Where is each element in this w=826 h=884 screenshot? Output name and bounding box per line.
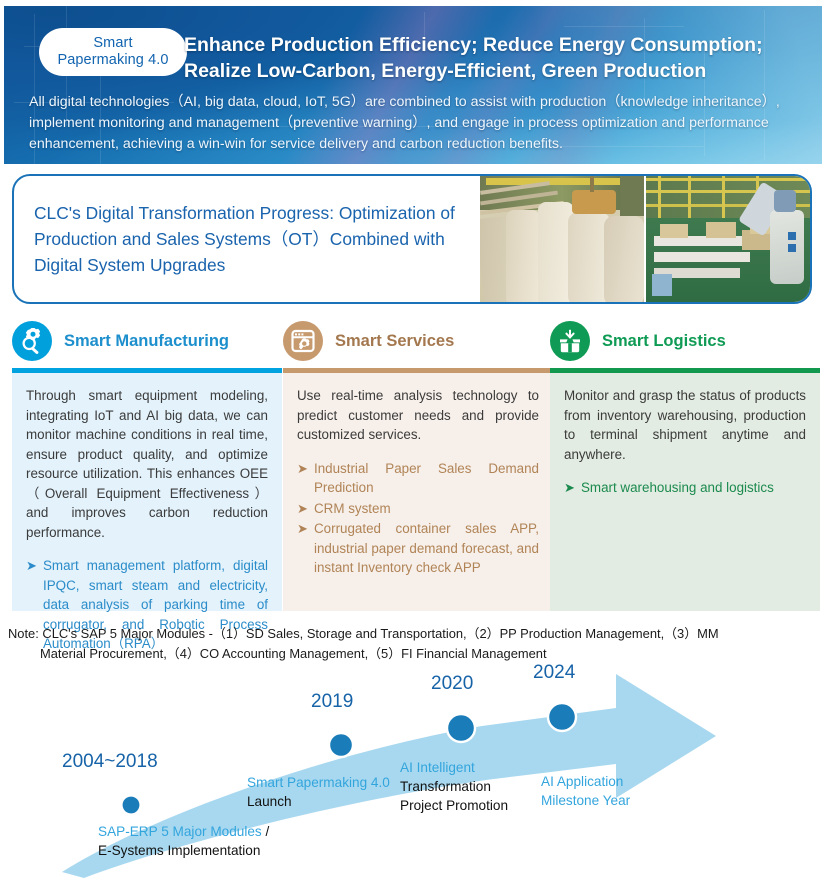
panel-title: CLC's Digital Transformation Progress: O… [34,200,494,278]
hero-headline: Enhance Production Efficiency; Reduce En… [184,32,814,84]
gear-magnifier-icon [12,321,52,361]
column-smart-services: Smart Services Use real-time analysis te… [283,318,553,611]
timeline-label-1-blue: SAP-ERP 5 Major Modules [98,824,262,839]
capability-columns: Smart Manufacturing Through smart equipm… [0,318,826,618]
hero-paragraph: All digital technologies（AI, big data, c… [29,92,804,155]
timeline-label-1-mid: / [262,824,270,839]
package-box-icon [550,321,590,361]
timeline-label-3-blue: AI Intelligent [400,760,475,775]
column-title: Smart Services [335,332,454,351]
bullet-text: Smart warehousing and logistics [581,478,806,498]
list-item: ➤ CRM system [297,499,539,519]
column-body-text: Use real-time analysis technology to pre… [297,386,539,445]
list-item: ➤ Corrugated container sales APP, indust… [297,519,539,578]
column-title: Smart Logistics [602,332,726,351]
arrow-right-icon: ➤ [297,459,314,498]
timeline-label-3: AI Intelligent Transformation Project Pr… [400,758,536,815]
column-header: Smart Logistics [550,318,820,364]
timeline-year-4: 2024 [533,662,575,684]
timeline-label-2: Smart Papermaking 4.0 Launch [247,773,397,811]
column-title: Smart Manufacturing [64,332,229,351]
column-body: Use real-time analysis technology to pre… [283,373,553,611]
column-header: Smart Manufacturing [12,318,282,364]
transformation-progress-panel: CLC's Digital Transformation Progress: O… [12,174,812,304]
timeline-label-4-blue: AI Application Milestone Year [541,774,630,808]
arrow-right-icon: ➤ [564,478,581,498]
timeline-year-2: 2019 [311,691,353,713]
column-body: Through smart equipment modeling, integr… [12,373,282,611]
smart-papermaking-badge: Smart Papermaking 4.0 [39,28,187,76]
bullet-text: CRM system [314,499,539,519]
badge-line-2: Papermaking 4.0 [57,52,168,69]
timeline-year-1: 2004~2018 [62,751,158,773]
bullet-text: Corrugated container sales APP, industri… [314,519,539,578]
column-bullet-list: ➤ Smart warehousing and logistics [564,478,806,498]
list-item: ➤ Smart warehousing and logistics [564,478,806,498]
infographic-page: Smart Papermaking 4.0 Enhance Production… [0,0,826,884]
note-line-1: Note: CLC's SAP 5 Major Modules -（1）SD S… [8,624,820,644]
timeline-label-4: AI Application Milestone Year [541,772,681,810]
arrow-right-icon: ➤ [297,519,314,578]
bullet-text: Industrial Paper Sales Demand Prediction [314,459,539,498]
timeline-label-2-black: Launch [247,794,292,809]
timeline-label-3-black: Transformation Project Promotion [400,779,508,813]
badge-line-1: Smart [93,35,132,52]
hero-banner: Smart Papermaking 4.0 Enhance Production… [4,6,822,164]
panel-photo-strip [480,176,810,304]
column-header: Smart Services [283,318,553,364]
column-body-text: Through smart equipment modeling, integr… [26,386,268,542]
paper-roll-conveyor-photo [480,176,644,304]
column-smart-logistics: Smart Logistics Monitor and grasp the st… [550,318,820,611]
timeline-year-3: 2020 [431,673,473,695]
browser-gear-icon [283,321,323,361]
timeline-label-1: SAP-ERP 5 Major Modules / E-Systems Impl… [98,822,328,860]
column-smart-manufacturing: Smart Manufacturing Through smart equipm… [12,318,282,611]
list-item: ➤ Industrial Paper Sales Demand Predicti… [297,459,539,498]
sap-modules-note: Note: CLC's SAP 5 Major Modules -（1）SD S… [8,624,820,664]
arrow-right-icon: ➤ [297,499,314,519]
timeline-label-2-blue: Smart Papermaking 4.0 [247,775,390,790]
timeline-label-1-black: E-Systems Implementation [98,843,260,858]
column-body-text: Monitor and grasp the status of products… [564,386,806,464]
column-bullet-list: ➤ Industrial Paper Sales Demand Predicti… [297,459,539,578]
milestone-timeline: 2004~2018 2019 2020 2024 SAP-ERP 5 Major… [0,660,826,884]
robot-palletizer-photo [646,176,810,304]
column-body: Monitor and grasp the status of products… [550,373,820,611]
